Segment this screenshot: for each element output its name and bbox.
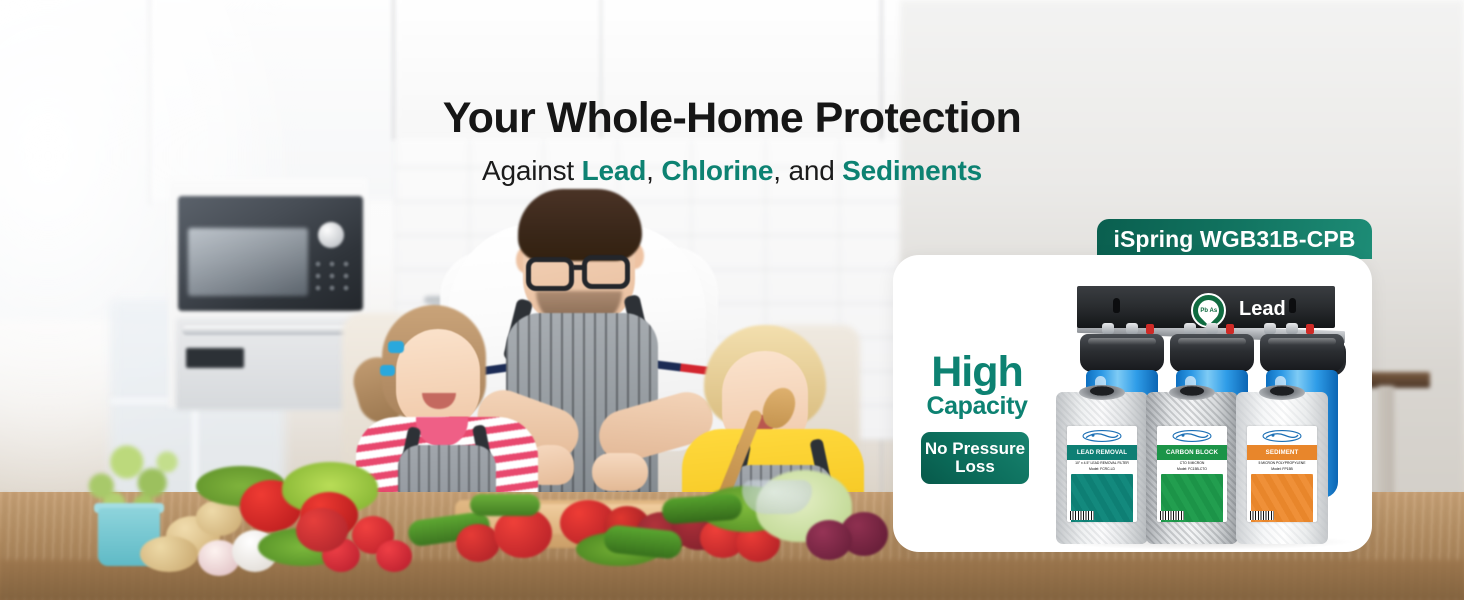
potato xyxy=(140,536,198,572)
cartridge-name-band: LEAD REMOVAL xyxy=(1067,445,1137,460)
oven-display xyxy=(186,348,244,368)
father-hair xyxy=(518,189,642,261)
cartridge-name-band: CARBON BLOCK xyxy=(1157,445,1227,460)
eyeglasses-right-lens xyxy=(582,255,630,289)
cartridge-label: CARBON BLOCK CTO 5 MICRON Model: FC15B-C… xyxy=(1157,426,1227,522)
barcode-icon xyxy=(1250,511,1274,520)
cucumber xyxy=(661,493,743,525)
cartridge-model: Model: FP15B xyxy=(1247,466,1317,472)
no-pressure-loss-badge: No Pressure Loss xyxy=(921,432,1029,484)
pill-line1: No Pressure xyxy=(925,440,1025,458)
cartridge-top-opening xyxy=(1079,385,1125,400)
pressure-release-button xyxy=(1146,324,1154,334)
tomato xyxy=(296,508,348,552)
barcode-icon xyxy=(1160,511,1184,520)
ispring-logo-icon xyxy=(1157,426,1227,445)
filter-cap-2 xyxy=(1170,334,1254,372)
cartridge-model: Model: FCRC-LD xyxy=(1067,466,1137,472)
valve-knob xyxy=(1184,323,1196,334)
water-drop-icon: Pb As xyxy=(1194,296,1224,326)
cartridge-label: LEAD REMOVAL 10" x 4.5" LEAD REMOVAL FIL… xyxy=(1067,426,1137,522)
cartridge-top-opening xyxy=(1169,385,1215,400)
cartridge-subtitle: 10" x 4.5" LEAD REMOVAL FILTER xyxy=(1067,460,1137,466)
microwave-window xyxy=(188,228,308,296)
eyeglasses-left-lens xyxy=(526,257,574,291)
pill-line2: Loss xyxy=(955,458,995,476)
girl-face xyxy=(396,329,480,429)
cucumber-slices xyxy=(470,494,540,516)
bracket-keyhole xyxy=(1289,298,1296,313)
valve-knob xyxy=(1126,323,1138,334)
pressure-release-button xyxy=(1226,324,1234,334)
ispring-logo-icon xyxy=(1067,426,1137,445)
radish xyxy=(376,540,412,572)
high-capacity-text: High Capacity xyxy=(921,352,1033,420)
cartridge-model: Model: FC15B-CTO xyxy=(1157,466,1227,472)
eyeglasses-bridge xyxy=(573,265,585,270)
ispring-logo-icon xyxy=(1247,426,1317,445)
girl-hair-clip xyxy=(380,365,395,376)
cartridge-label: SEDIMENT 5 MICRON POLYPROPYLENE Model: F… xyxy=(1247,426,1317,522)
valve-knob xyxy=(1206,323,1218,334)
filter-cap-1 xyxy=(1080,334,1164,372)
bracket-keyhole xyxy=(1113,298,1120,313)
girl-hair-clip xyxy=(388,341,404,353)
cabinet-seam xyxy=(600,0,602,138)
cartridge-carbon-block: CARBON BLOCK CTO 5 MICRON Model: FC15B-C… xyxy=(1146,392,1238,544)
pressure-release-button xyxy=(1306,324,1314,334)
high-capacity-line2: Capacity xyxy=(921,393,1033,419)
cartridge-top-opening xyxy=(1259,385,1305,400)
valve-knob xyxy=(1264,323,1276,334)
barcode-icon xyxy=(1070,511,1094,520)
seal-symbol: Pb As xyxy=(1200,308,1217,314)
beet xyxy=(806,520,852,560)
upper-cabinet-right xyxy=(395,0,915,140)
water-filter-system: Pb As Lead xyxy=(1048,282,1366,544)
valve-knob xyxy=(1102,323,1114,334)
cartridge-sediment: SEDIMENT 5 MICRON POLYPROPYLENE Model: F… xyxy=(1236,392,1328,544)
father-hand-right xyxy=(592,453,648,491)
glass-bowl xyxy=(742,480,812,514)
high-capacity-line1: High xyxy=(921,352,1033,393)
cartridge-lead-removal: LEAD REMOVAL 10" x 4.5" LEAD REMOVAL FIL… xyxy=(1056,392,1148,544)
cartridge-name-band: SEDIMENT xyxy=(1247,445,1317,460)
promotional-banner: Your Whole-Home Protection Against Lead,… xyxy=(0,0,1464,600)
bracket-label: Lead xyxy=(1239,298,1286,321)
product-name-label: iSpring WGB31B-CPB xyxy=(1113,226,1355,253)
valve-knob xyxy=(1286,323,1298,334)
product-name-tab: iSpring WGB31B-CPB xyxy=(1097,219,1372,259)
cabinet-seam xyxy=(392,0,395,140)
filter-cap-3 xyxy=(1260,334,1344,372)
